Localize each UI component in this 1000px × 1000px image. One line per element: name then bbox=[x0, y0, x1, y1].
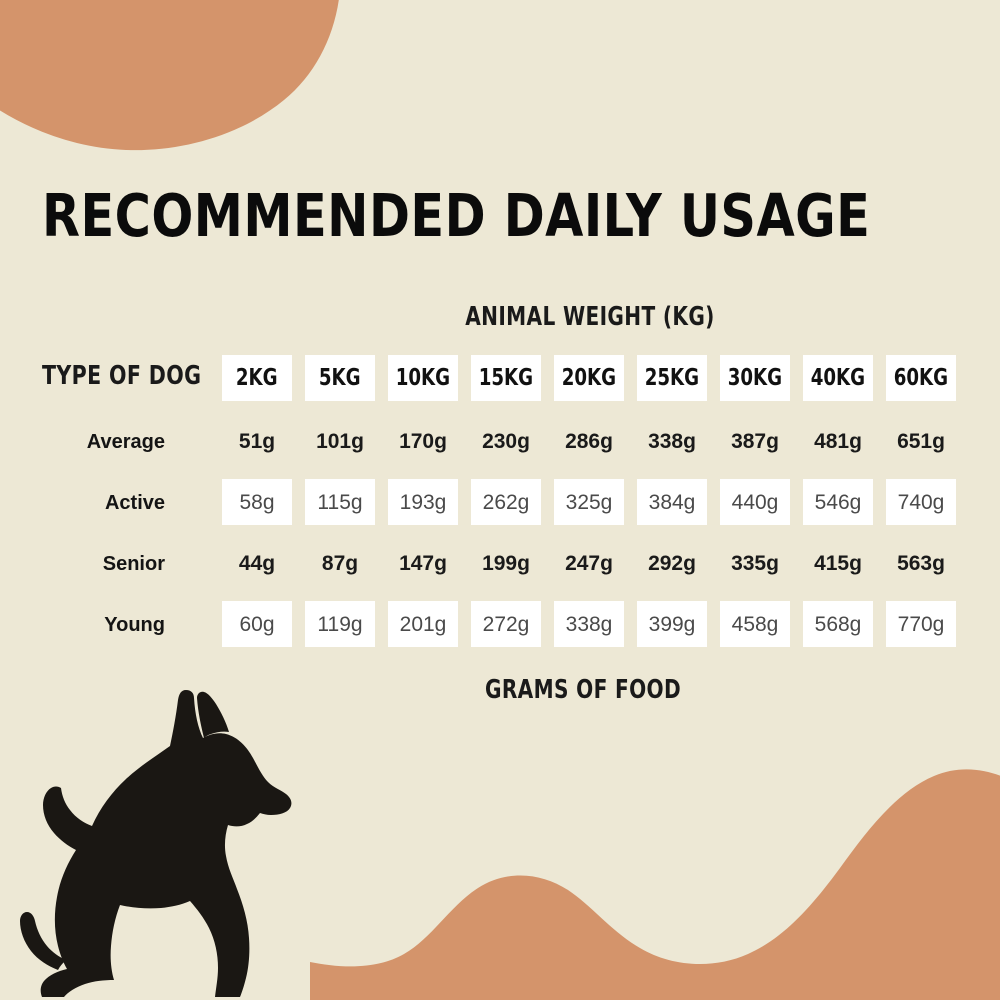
table-cell-value: 415g bbox=[814, 553, 862, 574]
table-cell: 272g bbox=[471, 601, 541, 647]
table-cell-value: 546g bbox=[815, 492, 862, 513]
table-cell: 568g bbox=[803, 601, 873, 647]
column-header-label: 2KG bbox=[236, 367, 278, 390]
table-cell: 230g bbox=[471, 418, 541, 464]
table-cell-value: 147g bbox=[399, 553, 447, 574]
column-header-cell: 30KG bbox=[720, 355, 790, 401]
row-header-label: Young bbox=[15, 614, 165, 637]
table-cell: 651g bbox=[886, 418, 956, 464]
table-cell-value: 292g bbox=[648, 553, 696, 574]
table-cell-value: 384g bbox=[649, 492, 696, 513]
table-cell-value: 262g bbox=[483, 492, 530, 513]
table-cell: 286g bbox=[554, 418, 624, 464]
column-header-label: 10KG bbox=[396, 367, 450, 390]
table-cell: 193g bbox=[388, 479, 458, 525]
table-cell-value: 193g bbox=[400, 492, 447, 513]
column-header-cell: 40KG bbox=[803, 355, 873, 401]
table-cell-value: 387g bbox=[731, 431, 779, 452]
column-header-cell: 25KG bbox=[637, 355, 707, 401]
table-cell-value: 119g bbox=[317, 614, 362, 635]
table-cell-value: 60g bbox=[239, 614, 274, 635]
column-header-cell: 20KG bbox=[554, 355, 624, 401]
table-cell: 325g bbox=[554, 479, 624, 525]
column-header-label: 25KG bbox=[645, 367, 699, 390]
table-cell-value: 230g bbox=[482, 431, 530, 452]
table-cell: 44g bbox=[222, 540, 292, 586]
column-header-cell: 5KG bbox=[305, 355, 375, 401]
table-cell-value: 44g bbox=[239, 553, 275, 574]
row-header-label: Average bbox=[15, 431, 165, 454]
table-cell: 338g bbox=[637, 418, 707, 464]
column-header-label: 60KG bbox=[894, 367, 948, 390]
table-cell: 481g bbox=[803, 418, 873, 464]
row-header-label: Senior bbox=[15, 553, 165, 576]
table-cell: 51g bbox=[222, 418, 292, 464]
table-cell-value: 247g bbox=[565, 553, 613, 574]
table-cell: 546g bbox=[803, 479, 873, 525]
table-cell-value: 286g bbox=[565, 431, 613, 452]
column-header-label: 20KG bbox=[562, 367, 616, 390]
table-cell-value: 651g bbox=[897, 431, 945, 452]
column-header-label: 15KG bbox=[479, 367, 533, 390]
table-cell: 335g bbox=[720, 540, 790, 586]
table-cell: 170g bbox=[388, 418, 458, 464]
table-cell: 563g bbox=[886, 540, 956, 586]
column-header-cell: 15KG bbox=[471, 355, 541, 401]
column-header-cell: 60KG bbox=[886, 355, 956, 401]
column-header-cell: 10KG bbox=[388, 355, 458, 401]
table-cell: 440g bbox=[720, 479, 790, 525]
table-cell: 262g bbox=[471, 479, 541, 525]
table-cell: 87g bbox=[305, 540, 375, 586]
table-cell: 147g bbox=[388, 540, 458, 586]
table-cell-value: 51g bbox=[239, 431, 275, 452]
table-cell: 387g bbox=[720, 418, 790, 464]
column-header-label: 30KG bbox=[728, 367, 782, 390]
table-cell: 770g bbox=[886, 601, 956, 647]
table-cell: 60g bbox=[222, 601, 292, 647]
table-cell: 458g bbox=[720, 601, 790, 647]
table-cell: 384g bbox=[637, 479, 707, 525]
table-cell-value: 272g bbox=[483, 614, 530, 635]
column-header-label: 40KG bbox=[811, 367, 865, 390]
table-cell: 247g bbox=[554, 540, 624, 586]
table-cell: 199g bbox=[471, 540, 541, 586]
table-cell-value: 115g bbox=[317, 492, 362, 513]
table-cell: 338g bbox=[554, 601, 624, 647]
table-cell-value: 201g bbox=[400, 614, 447, 635]
table-cell-value: 481g bbox=[814, 431, 862, 452]
table-cell-value: 440g bbox=[732, 492, 779, 513]
table-cell-value: 101g bbox=[316, 431, 364, 452]
table-cell-value: 58g bbox=[239, 492, 274, 513]
table-cell-value: 770g bbox=[898, 614, 945, 635]
table-cell: 101g bbox=[305, 418, 375, 464]
table-cell-value: 87g bbox=[322, 553, 358, 574]
table-cell-value: 338g bbox=[648, 431, 696, 452]
table-cell: 201g bbox=[388, 601, 458, 647]
table-cell: 740g bbox=[886, 479, 956, 525]
table-cell-value: 335g bbox=[731, 553, 779, 574]
row-header-label: Active bbox=[15, 492, 165, 515]
table-cell-value: 740g bbox=[898, 492, 945, 513]
table-cell: 119g bbox=[305, 601, 375, 647]
table-cell: 58g bbox=[222, 479, 292, 525]
table-cell-value: 338g bbox=[566, 614, 613, 635]
table-cell-value: 325g bbox=[566, 492, 613, 513]
table-cell: 399g bbox=[637, 601, 707, 647]
table-cell: 292g bbox=[637, 540, 707, 586]
poster-canvas: RECOMMENDED DAILY USAGE ANIMAL WEIGHT (K… bbox=[0, 0, 1000, 1000]
table-cell-value: 170g bbox=[399, 431, 447, 452]
table-cell-value: 399g bbox=[649, 614, 696, 635]
table-cell-value: 563g bbox=[897, 553, 945, 574]
table-cell-value: 458g bbox=[732, 614, 779, 635]
recommended-usage-table: 2KG5KG10KG15KG20KG25KG30KG40KG60KGAverag… bbox=[0, 0, 1000, 1000]
column-header-cell: 2KG bbox=[222, 355, 292, 401]
column-header-label: 5KG bbox=[319, 367, 361, 390]
table-cell: 415g bbox=[803, 540, 873, 586]
table-cell-value: 199g bbox=[482, 553, 530, 574]
table-cell-value: 568g bbox=[815, 614, 862, 635]
table-cell: 115g bbox=[305, 479, 375, 525]
